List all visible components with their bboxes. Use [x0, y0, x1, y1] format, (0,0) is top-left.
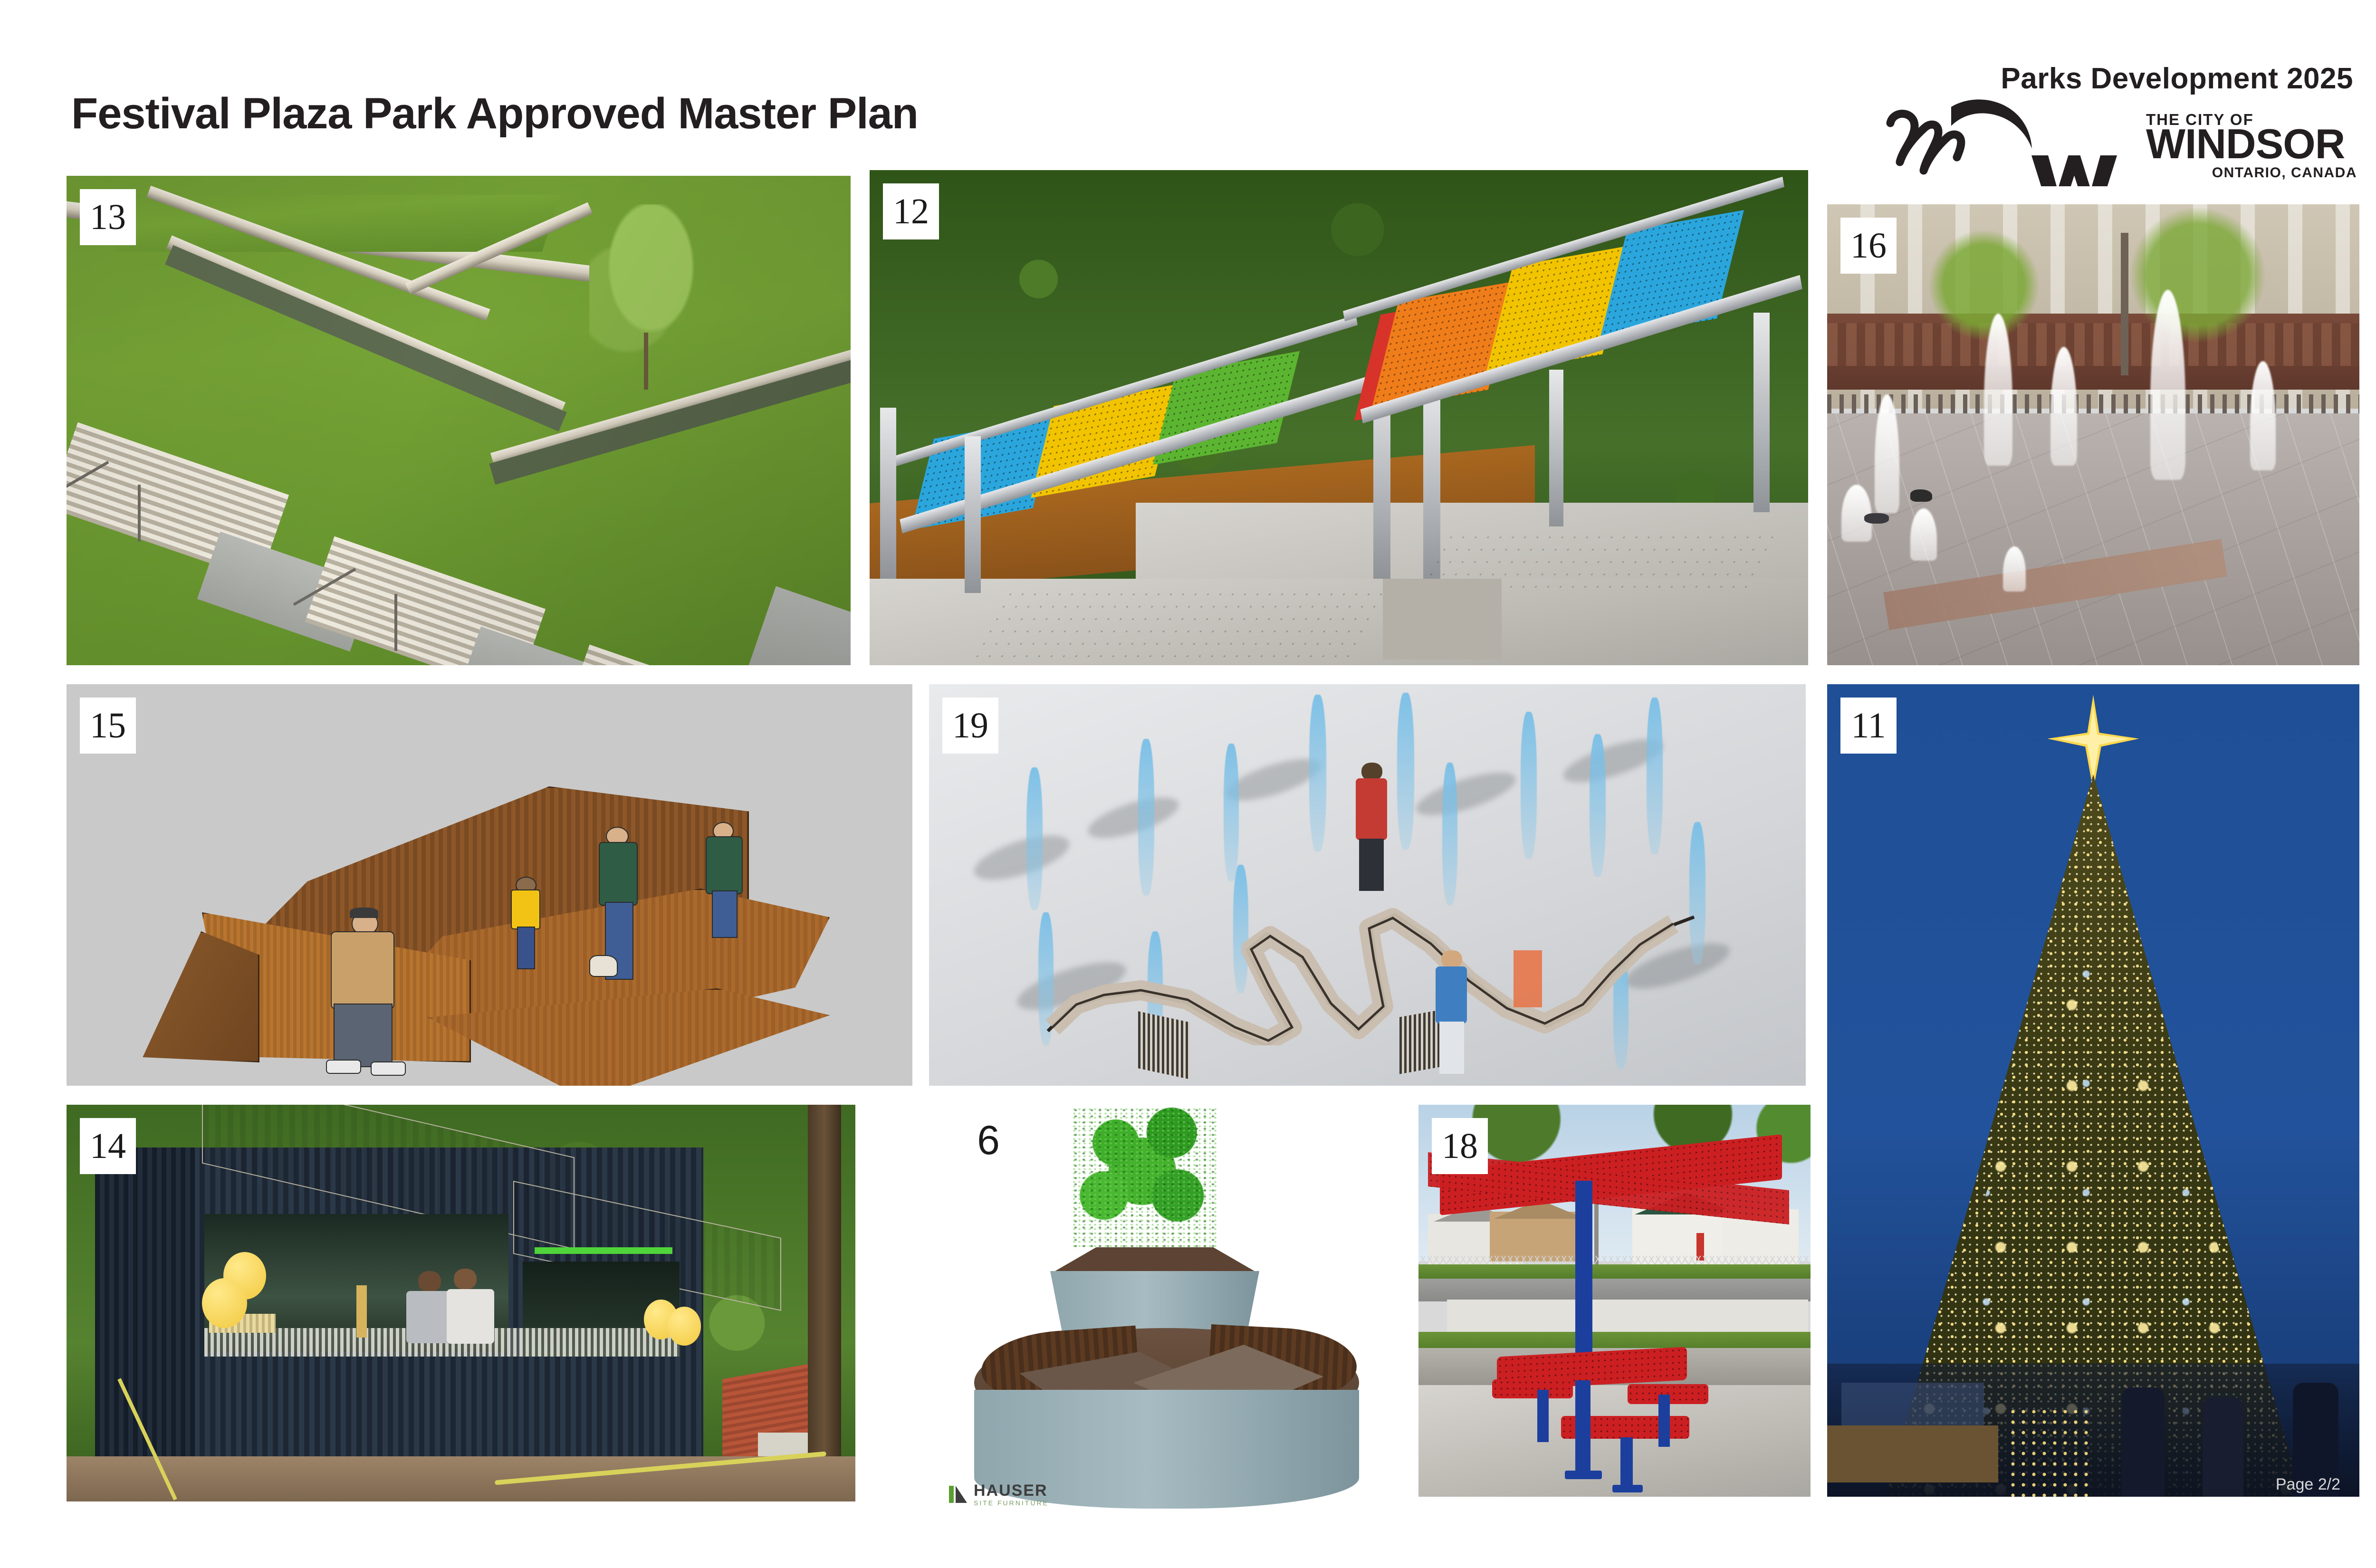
panel-splash-pad[interactable]: 19 [929, 684, 1806, 1086]
page-indicator: Page 2/2 [2276, 1475, 2340, 1494]
panel-planter-bench[interactable]: HAUSER SITE FURNITURE 6 [929, 1105, 1404, 1523]
panel-badge: 14 [80, 1118, 136, 1174]
page-title: Festival Plaza Park Approved Master Plan [71, 89, 918, 139]
panel-badge: 19 [942, 698, 998, 754]
panel-badge: 13 [80, 189, 136, 245]
panel-badge: 15 [80, 698, 136, 754]
brand-block: Parks Development 2025 THE CITY OF WINDS… [1849, 62, 2362, 186]
watermark-tagline: SITE FURNITURE [974, 1500, 1049, 1507]
panel-picnic-table[interactable]: 18 [1418, 1105, 1811, 1497]
panel-badge: 11 [1840, 698, 1897, 754]
logo-line2: WINDSOR [2146, 120, 2345, 167]
panel-container-bar[interactable]: 14 [67, 1105, 855, 1501]
panel-badge: 18 [1432, 1118, 1488, 1174]
photo-container-bar [67, 1105, 855, 1501]
panel-badge: 12 [883, 183, 939, 239]
panel-wood-stage-deck[interactable]: 15 [67, 684, 912, 1086]
logo-line3: ONTARIO, CANADA [2212, 165, 2357, 181]
photo-christmas-tree [1827, 684, 2359, 1497]
panel-terraced-lawn[interactable]: 13 [67, 176, 851, 665]
panel-plaza-fountain[interactable]: 16 [1827, 204, 2359, 665]
panel-christmas-tree[interactable]: 11 Page 2/2 [1827, 684, 2359, 1497]
panel-badge: 16 [1840, 218, 1897, 274]
photo-terraced-lawn [67, 176, 851, 665]
photo-wood-stage-deck [67, 684, 912, 1086]
panel-colour-canopy[interactable]: 12 [870, 170, 1808, 665]
windsor-logo-icon: THE CITY OF WINDSOR ONTARIO, CANADA [1882, 98, 2362, 186]
photo-colour-canopy [870, 170, 1808, 665]
city-of-windsor-logo: THE CITY OF WINDSOR ONTARIO, CANADA [1849, 98, 2362, 186]
photo-splash-pad [929, 684, 1806, 1086]
watermark-brand: HAUSER [974, 1482, 1049, 1500]
panel-badge: 6 [958, 1109, 1019, 1171]
hauser-logo-icon [948, 1484, 969, 1505]
program-label: Parks Development 2025 [1849, 62, 2362, 96]
photo-plaza-fountain [1827, 204, 2359, 665]
